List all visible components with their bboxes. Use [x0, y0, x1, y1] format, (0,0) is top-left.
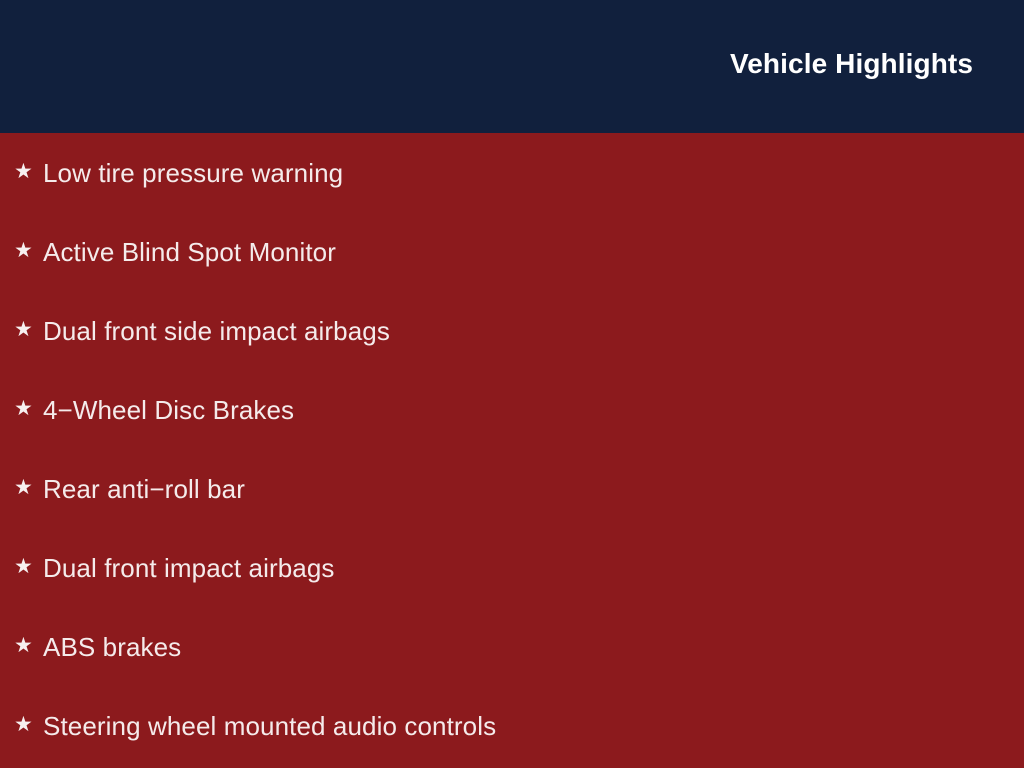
- header-band: Vehicle Highlights: [0, 0, 1024, 133]
- feature-label: Steering wheel mounted audio controls: [43, 711, 496, 741]
- feature-label: Low tire pressure warning: [43, 158, 343, 188]
- feature-list-panel: ★ Low tire pressure warning ★ Active Bli…: [0, 133, 1024, 768]
- feature-label: Rear anti−roll bar: [43, 474, 245, 504]
- list-item: ★ Dual front side impact airbags: [0, 291, 1024, 370]
- feature-label: Dual front impact airbags: [43, 553, 335, 583]
- vehicle-highlights-slide: Vehicle Highlights ★ Low tire pressure w…: [0, 0, 1024, 768]
- list-item: ★ Rear anti−roll bar: [0, 449, 1024, 528]
- star-icon: ★: [14, 556, 43, 577]
- list-item: ★ Steering wheel mounted audio controls: [0, 686, 1024, 765]
- list-item: ★ Active Blind Spot Monitor: [0, 212, 1024, 291]
- feature-label: Dual front side impact airbags: [43, 316, 390, 346]
- feature-label: ABS brakes: [43, 632, 181, 662]
- feature-label: 4−Wheel Disc Brakes: [43, 395, 294, 425]
- star-icon: ★: [14, 240, 43, 261]
- vehicle-feature-list: ★ Low tire pressure warning ★ Active Bli…: [0, 133, 1024, 765]
- list-item: ★ 4−Wheel Disc Brakes: [0, 370, 1024, 449]
- star-icon: ★: [14, 635, 43, 656]
- star-icon: ★: [14, 714, 43, 735]
- star-icon: ★: [14, 477, 43, 498]
- page-title: Vehicle Highlights: [730, 47, 973, 81]
- star-icon: ★: [14, 398, 43, 419]
- list-item: ★ Low tire pressure warning: [0, 133, 1024, 212]
- feature-label: Active Blind Spot Monitor: [43, 237, 336, 267]
- star-icon: ★: [14, 319, 43, 340]
- list-item: ★ Dual front impact airbags: [0, 528, 1024, 607]
- star-icon: ★: [14, 161, 43, 182]
- list-item: ★ ABS brakes: [0, 607, 1024, 686]
